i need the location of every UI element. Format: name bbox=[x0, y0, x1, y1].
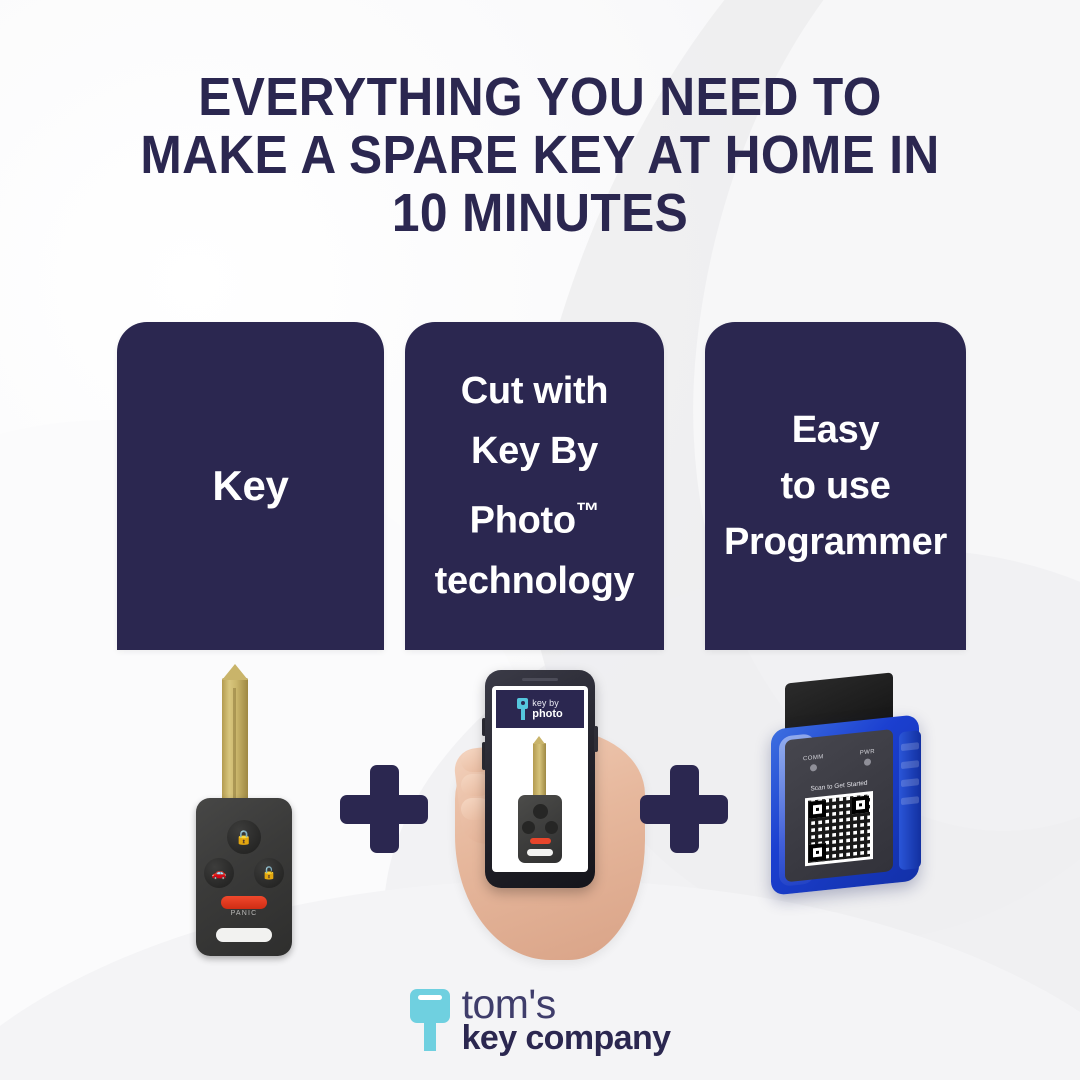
mini-trunk-button bbox=[522, 821, 535, 834]
brand-logo: tom's key company bbox=[0, 980, 1080, 1060]
mini-label-strip bbox=[527, 849, 553, 856]
headline-line-3: 10 MINUTES bbox=[43, 184, 1037, 242]
mini-unlock-button bbox=[545, 821, 558, 834]
phone-speaker bbox=[522, 678, 558, 681]
app-header-bar: key by photo bbox=[496, 690, 584, 728]
feature-card-programmer-text: Easy to use Programmer bbox=[724, 402, 947, 570]
phone-screen: key by photo bbox=[492, 686, 588, 872]
mini-panic-button bbox=[530, 838, 551, 844]
qr-code-icon bbox=[805, 791, 873, 866]
feature-card-key-by-photo-text: Cut with Key By Photo™ technology bbox=[435, 361, 635, 611]
app-name-line-1: key by bbox=[532, 699, 563, 708]
key-blade bbox=[222, 678, 248, 808]
panic-button-icon bbox=[221, 896, 267, 909]
trunk-button-icon: 🚗 bbox=[204, 858, 234, 888]
card-1-line-1: Key bbox=[212, 462, 288, 509]
logo-text-line-1: tom's bbox=[462, 986, 671, 1024]
mini-lock-button bbox=[533, 804, 548, 819]
obd-led-row: COMM PWR bbox=[785, 747, 893, 774]
obd-side-ribs bbox=[899, 730, 921, 870]
mini-key-blade bbox=[533, 743, 546, 799]
comm-led-icon bbox=[810, 764, 817, 772]
pwr-led-icon bbox=[864, 758, 871, 766]
card-2-line-2: Key By bbox=[471, 430, 598, 472]
obd-housing: COMM PWR Scan to Get Started bbox=[771, 714, 919, 896]
obd-led-pwr: PWR bbox=[860, 749, 875, 767]
key-blade-groove bbox=[233, 688, 236, 800]
app-name-line-2: photo bbox=[532, 709, 563, 720]
obd-led-pwr-label: PWR bbox=[860, 749, 875, 757]
page-title: EVERYTHING YOU NEED TO MAKE A SPARE KEY … bbox=[43, 68, 1037, 242]
key-fob-label-strip bbox=[216, 928, 272, 942]
trademark-symbol: ™ bbox=[576, 498, 600, 524]
lock-button-icon: 🔒 bbox=[227, 820, 261, 854]
card-3-line-3: Programmer bbox=[724, 521, 947, 563]
feature-card-programmer: Easy to use Programmer bbox=[705, 322, 966, 650]
feature-card-key-text: Key bbox=[212, 457, 288, 515]
phone-in-hand-image: key by photo bbox=[455, 670, 645, 960]
card-2-line-3: Photo bbox=[470, 500, 576, 542]
feature-card-key: Key bbox=[117, 322, 384, 650]
product-row: 🔒 🚗 🔓 PANIC bbox=[0, 660, 1080, 960]
poster-canvas: EVERYTHING YOU NEED TO MAKE A SPARE KEY … bbox=[0, 0, 1080, 1080]
logo-key-icon bbox=[410, 989, 450, 1051]
feature-cards: Key Cut with Key By Photo™ technology Ea… bbox=[0, 322, 1080, 652]
card-3-line-2: to use bbox=[780, 465, 890, 507]
card-3-line-1: Easy bbox=[792, 409, 880, 451]
obd-programmer-image: COMM PWR Scan to Get Started bbox=[757, 670, 937, 920]
headline-line-1: EVERYTHING YOU NEED TO bbox=[43, 68, 1037, 126]
card-2-line-1: Cut with bbox=[461, 370, 608, 412]
plus-sign-1 bbox=[340, 765, 428, 853]
logo-text-line-2: key company bbox=[462, 1023, 671, 1054]
obd-led-comm-label: COMM bbox=[803, 754, 824, 762]
car-key-fob-image: 🔒 🚗 🔓 PANIC bbox=[196, 678, 292, 956]
obd-faceplate: COMM PWR Scan to Get Started bbox=[785, 729, 893, 882]
obd-led-comm: COMM bbox=[803, 754, 824, 772]
panic-label: PANIC bbox=[196, 910, 292, 917]
key-fob-body: 🔒 🚗 🔓 PANIC bbox=[196, 798, 292, 956]
feature-card-key-by-photo: Cut with Key By Photo™ technology bbox=[405, 322, 664, 650]
card-2-line-4: technology bbox=[435, 560, 635, 602]
obd-scan-text: Scan to Get Started bbox=[785, 777, 893, 795]
plus-sign-2 bbox=[640, 765, 728, 853]
phone-side-button-3 bbox=[594, 726, 598, 752]
smartphone: key by photo bbox=[485, 670, 595, 888]
mini-key-body bbox=[518, 795, 562, 863]
key-by-photo-logo-icon bbox=[517, 698, 528, 720]
app-key-photo bbox=[492, 734, 588, 872]
headline-line-2: MAKE A SPARE KEY AT HOME IN bbox=[43, 126, 1037, 184]
unlock-button-icon: 🔓 bbox=[254, 858, 284, 888]
